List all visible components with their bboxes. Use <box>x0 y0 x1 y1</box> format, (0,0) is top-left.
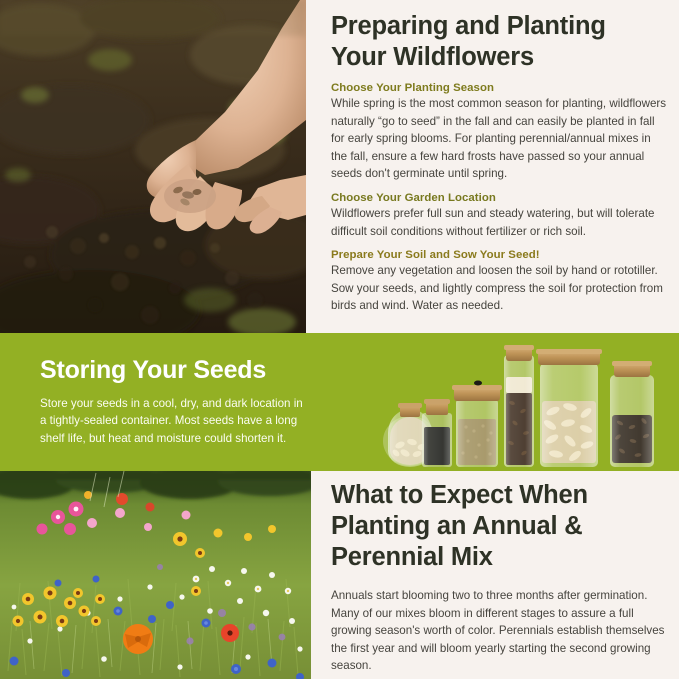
soil-sowing-illustration <box>0 0 306 333</box>
wildflower-meadow-illustration <box>0 471 311 679</box>
section-storing-your-seeds: Storing Your Seeds Store your seeds in a… <box>0 333 679 471</box>
subheading-prepare-soil: Prepare Your Soil and Sow Your Seed! <box>331 240 667 261</box>
what-to-expect-paragraph: Annuals start blooming two to three mont… <box>331 573 667 675</box>
storing-paragraph: Store your seeds in a cool, dry, and dar… <box>40 385 310 447</box>
section-preparing-and-planting: Preparing and Planting Your Wildflowers … <box>0 0 679 333</box>
subheading-garden-location: Choose Your Garden Location <box>331 183 667 204</box>
section-what-to-expect: What to Expect When Planting an Annual &… <box>0 471 679 679</box>
seed-jars-photo <box>378 341 668 469</box>
wildflower-meadow-photo <box>0 471 311 679</box>
preparing-text-column: Preparing and Planting Your Wildflowers … <box>331 0 667 333</box>
soil-sowing-photo <box>0 0 306 333</box>
storing-text-column: Storing Your Seeds Store your seeds in a… <box>40 355 310 447</box>
subheading-planting-season: Choose Your Planting Season <box>331 73 667 94</box>
what-to-expect-text-column: What to Expect When Planting an Annual &… <box>331 471 667 675</box>
what-to-expect-title: What to Expect When Planting an Annual &… <box>331 471 667 573</box>
paragraph-prepare-soil: Remove any vegetation and loosen the soi… <box>331 261 667 315</box>
storing-title: Storing Your Seeds <box>40 355 310 385</box>
paragraph-garden-location: Wildflowers prefer full sun and steady w… <box>331 204 667 240</box>
infographic-page: Preparing and Planting Your Wildflowers … <box>0 0 679 679</box>
page-title: Preparing and Planting Your Wildflowers <box>331 0 667 73</box>
paragraph-planting-season: While spring is the most common season f… <box>331 94 667 183</box>
seed-jars-illustration <box>378 341 668 469</box>
